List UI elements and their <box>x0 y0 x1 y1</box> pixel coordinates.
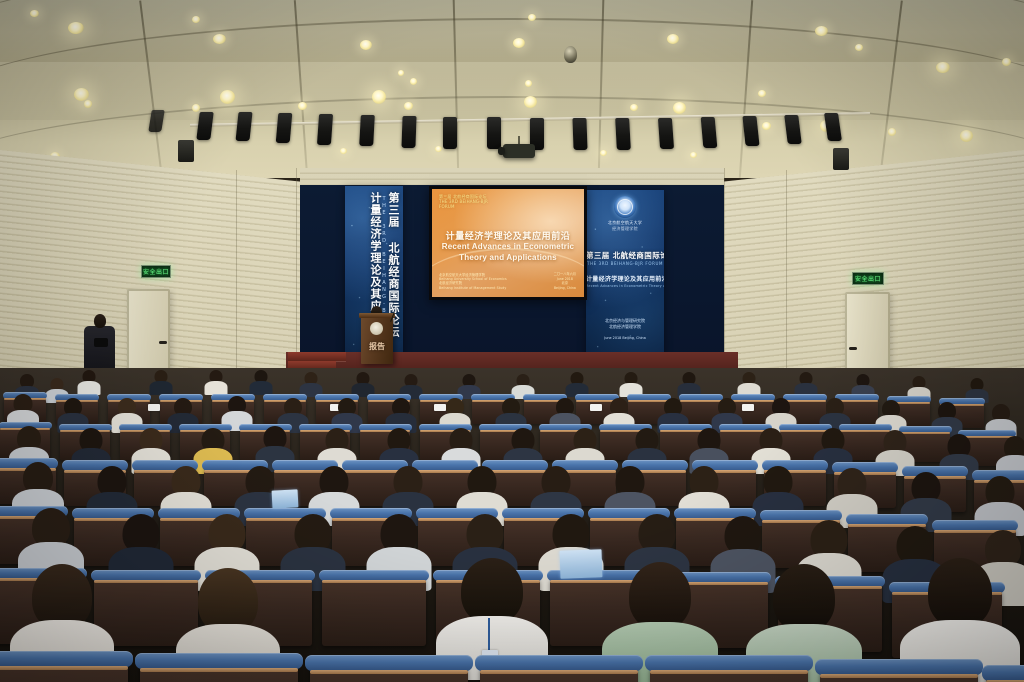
audience-person <box>78 370 100 394</box>
ceiling-speaker <box>572 118 587 150</box>
ceiling-spotlight <box>667 34 679 44</box>
ceiling-spotlight <box>410 78 417 85</box>
right-exit-door[interactable] <box>845 292 890 380</box>
slide-title-en-line-1: Recent Advances in Econometric <box>432 242 584 253</box>
ceiling-spotlight <box>960 130 973 142</box>
podium: 报告 <box>361 316 393 364</box>
ceiling-spotlight <box>398 70 404 76</box>
exit-sign-right: 安全出口 <box>852 272 884 285</box>
slide-footer-right: 二〇一八年六月 June 2018 北京 Beijing, China <box>554 272 576 290</box>
podium-top <box>359 313 395 318</box>
ceiling-spotlight <box>192 104 200 112</box>
ceiling-spotlight <box>372 90 386 104</box>
standing-photographer-body <box>84 326 115 372</box>
camera-icon <box>94 338 108 347</box>
audience-person <box>300 372 322 396</box>
auditorium-seat[interactable] <box>140 662 298 682</box>
ceiling-spotlight <box>758 90 766 97</box>
ceiling-spotlight <box>435 146 442 152</box>
ceiling-speaker <box>615 118 631 150</box>
seat-number-badge <box>742 404 754 411</box>
slide-footer-left-4: Beihang Institute of Management Study <box>439 286 507 290</box>
door-handle[interactable] <box>159 341 167 344</box>
ceiling-speaker <box>742 116 759 146</box>
slide-footer-right-2: June 2018 <box>554 277 576 281</box>
ceiling-spotlight <box>815 26 828 36</box>
ceiling-spotlight <box>888 128 896 136</box>
ceiling-spotlight <box>630 104 638 111</box>
seat-number-badge <box>148 404 160 411</box>
laptop-screen <box>272 489 299 508</box>
audience-person <box>678 372 700 396</box>
beihang-university-emblem-icon <box>614 196 636 218</box>
ceiling-spotlight <box>298 102 307 110</box>
banner-right-title-en: THE 3RD BEIHANG-BJR FORUM <box>586 261 664 266</box>
audience-person <box>566 372 588 396</box>
laptop-screen <box>560 549 603 578</box>
ceiling-speaker <box>658 118 674 149</box>
ceiling-spotlight <box>600 150 607 156</box>
ceiling-spotlight <box>192 16 200 23</box>
auditorium-seat[interactable] <box>820 668 978 682</box>
ceiling-spotlight <box>673 102 686 114</box>
audience-area <box>0 368 1024 682</box>
slide-notice-line-3: FORUM <box>439 204 488 209</box>
audience-person <box>738 372 760 396</box>
ceiling-projector-lens <box>498 147 505 155</box>
projection-screen-frame: 第三届 北航经商国际论坛 THE 3RD BEIHANG-BJR FORUM 计… <box>429 186 587 300</box>
wall-speaker <box>833 148 849 170</box>
audience-person <box>205 370 227 394</box>
ceiling-spotlight <box>528 14 536 21</box>
ceiling-projector <box>503 144 535 158</box>
auditorium-seat[interactable] <box>310 664 468 682</box>
banner-right-subtitle-cn: 计量经济学理论及其应用前沿 <box>586 274 664 283</box>
ceiling-spotlight <box>690 152 697 158</box>
door-handle[interactable] <box>849 347 857 350</box>
exit-sign-left: 安全出口 <box>141 265 171 278</box>
auditorium-seat[interactable] <box>0 660 128 682</box>
banner-right-subtitle-en: Recent Advances in Econometric Theory an… <box>586 284 664 288</box>
auditorium-seat[interactable] <box>322 576 426 646</box>
ceiling-spotlight <box>404 102 413 110</box>
ceiling-spotlight <box>525 80 532 87</box>
slide-footer-right-4: Beijing, China <box>554 286 576 290</box>
ceiling-spotlight <box>360 40 372 50</box>
audience-person <box>250 370 272 394</box>
banner-right-footer-3: June 2018 Beijing, China <box>586 336 664 341</box>
ceiling-spotlight <box>84 100 92 108</box>
university-seal-icon <box>370 322 383 335</box>
left-exit-door[interactable] <box>127 289 170 375</box>
exit-sign-right-label: 安全出口 <box>855 274 881 283</box>
ceiling-speaker <box>701 117 718 148</box>
ceiling-speaker <box>276 113 293 143</box>
audience-person <box>352 372 374 396</box>
slide-title-cn: 计量经济学理论及其应用前沿 <box>432 229 584 242</box>
wall-speaker <box>178 140 194 162</box>
slide-footer-left-3: 北航经济研究院 <box>439 281 507 285</box>
slide-footer-left: 北京航空航天大学经济管理学院 Beihang University School… <box>439 273 507 290</box>
slide-footer-left-1: 北京航空航天大学经济管理学院 <box>439 273 507 277</box>
podium-nameplate: 报告 <box>361 341 393 352</box>
ceiling-spotlight <box>513 38 525 48</box>
ceiling-spotlight <box>524 96 537 108</box>
exit-sign-left-label: 安全出口 <box>143 267 169 276</box>
ceiling-speaker <box>401 116 416 148</box>
slide-footer-right-1: 二〇一八年六月 <box>554 272 576 276</box>
ceiling-spotlight <box>340 148 347 154</box>
ceiling <box>0 0 1024 178</box>
standing-photographer-head <box>94 314 106 328</box>
ceiling-spotlight <box>68 22 84 34</box>
auditorium-photo: 安全出口 安全出口 第三届 北航经商国际论坛 计量经济学理论及其应用前沿 THE… <box>0 0 1024 682</box>
auditorium-seat[interactable] <box>480 664 638 682</box>
audience-person <box>150 370 172 394</box>
ceiling-spotlight <box>30 10 39 17</box>
seat-number-badge <box>590 404 602 411</box>
ceiling-speaker <box>443 117 457 149</box>
ceiling-spotlight <box>1002 58 1011 66</box>
ceiling-spotlight <box>855 44 863 51</box>
banner-right: 北京航空航天大学 经济管理学院 第三届 北航经商国际论坛 THE 3RD BEI… <box>586 190 664 368</box>
audience-person <box>620 372 642 396</box>
projection-screen: 第三届 北航经商国际论坛 THE 3RD BEIHANG-BJR FORUM 计… <box>432 189 584 297</box>
banner-right-university-sub: 经济管理学院 <box>586 226 664 232</box>
ceiling-speaker <box>359 115 375 146</box>
ceiling-spotlight <box>762 122 771 130</box>
ceiling-spotlight <box>213 34 226 44</box>
ceiling-spotlight <box>220 90 235 104</box>
slide-top-notice: 第三届 北航经商国际论坛 THE 3RD BEIHANG-BJR FORUM <box>439 194 488 209</box>
banner-right-title-cn: 第三届 北航经商国际论坛 <box>586 250 664 261</box>
slide-title-en-line-2: Theory and Applications <box>432 253 584 264</box>
banner-right-footer-2: 北航经济管理学院 <box>586 324 664 330</box>
auditorium-seat[interactable] <box>650 664 808 682</box>
slide-footer-left-2: Beihang University School of Economics <box>439 277 507 281</box>
ceiling-spotlight <box>936 62 950 73</box>
audience-person <box>795 372 817 396</box>
ceiling-speaker <box>317 114 333 145</box>
auditorium-seat[interactable] <box>986 674 1024 682</box>
slide-title-en: Recent Advances in Econometric Theory an… <box>432 242 584 264</box>
slide-footer-right-3: 北京 <box>554 281 576 285</box>
dome-security-camera <box>564 46 577 63</box>
ceiling-speaker <box>487 117 501 149</box>
